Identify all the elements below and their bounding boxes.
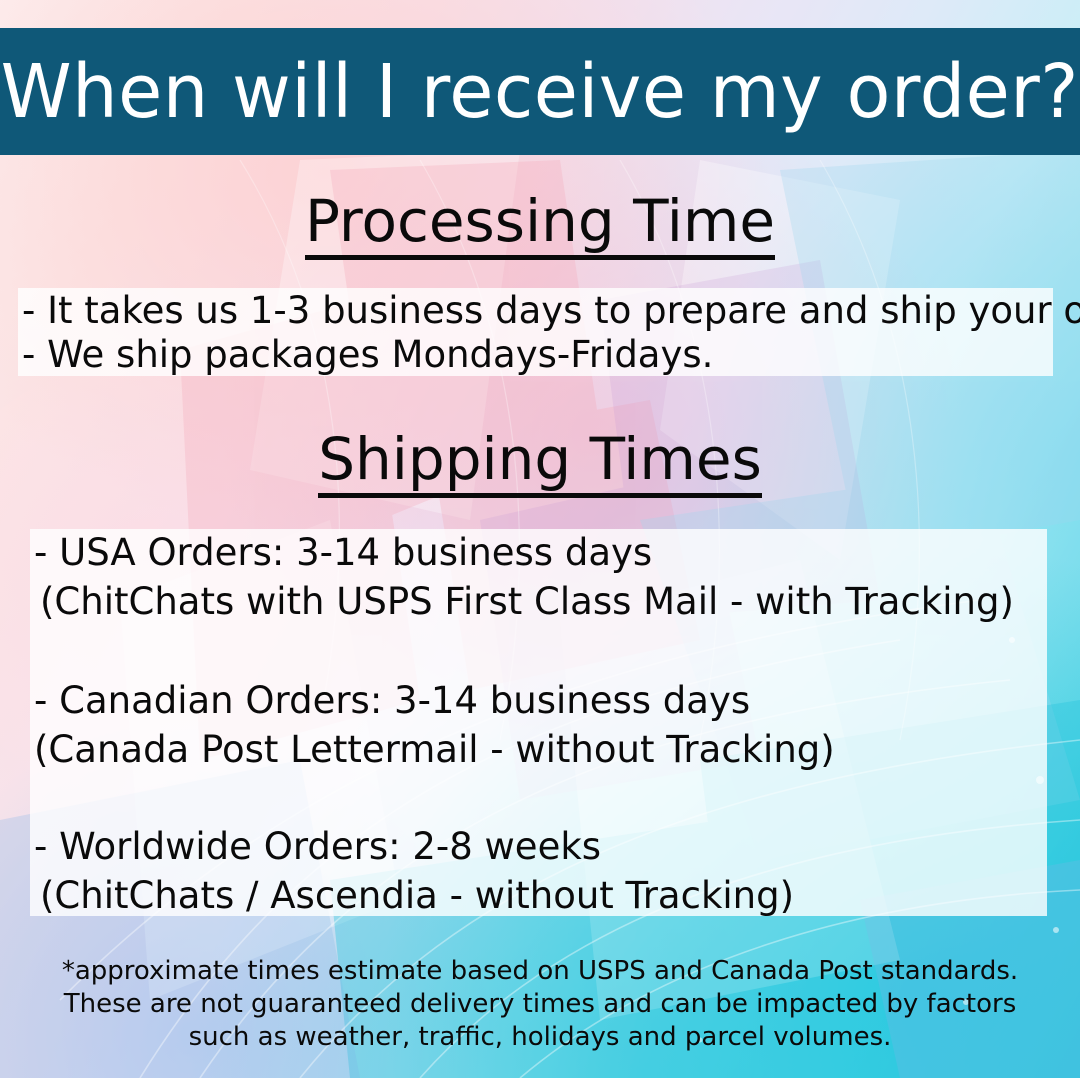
processing-line-1: - It takes us 1-3 business days to prepa… — [22, 289, 1080, 333]
shipping-times-heading: Shipping Times — [0, 430, 1080, 498]
processing-time-heading-text: Processing Time — [305, 192, 775, 260]
processing-time-lines: - It takes us 1-3 business days to prepa… — [22, 289, 1080, 377]
footnote-line-1: *approximate times estimate based on USP… — [0, 955, 1080, 988]
processing-time-heading: Processing Time — [0, 192, 1080, 260]
shipping-entry-usa: - USA Orders: 3-14 business days (ChitCh… — [34, 528, 1014, 626]
page-title: When will I receive my order? — [1, 55, 1079, 129]
footnote-line-3: such as weather, traffic, holidays and p… — [0, 1021, 1080, 1054]
shipping-entry-canada: - Canadian Orders: 3-14 business days (C… — [34, 676, 835, 774]
disclaimer-footnote: *approximate times estimate based on USP… — [0, 955, 1080, 1054]
processing-line-2: - We ship packages Mondays-Fridays. — [22, 333, 1080, 377]
shipping-usa-line-2: (ChitChats with USPS First Class Mail - … — [34, 577, 1014, 626]
shipping-canada-line-2: (Canada Post Lettermail - without Tracki… — [34, 725, 835, 774]
shipping-entry-worldwide: - Worldwide Orders: 2-8 weeks (ChitChats… — [34, 822, 794, 920]
shipping-worldwide-line-1: - Worldwide Orders: 2-8 weeks — [34, 822, 794, 871]
footnote-line-2: These are not guaranteed delivery times … — [0, 988, 1080, 1021]
header-banner: When will I receive my order? — [0, 28, 1080, 155]
shipping-worldwide-line-2: (ChitChats / Ascendia - without Tracking… — [34, 871, 794, 920]
shipping-usa-line-1: - USA Orders: 3-14 business days — [34, 528, 1014, 577]
shipping-info-poster: When will I receive my order? Processing… — [0, 0, 1080, 1078]
shipping-times-heading-text: Shipping Times — [318, 430, 762, 498]
shipping-canada-line-1: - Canadian Orders: 3-14 business days — [34, 676, 835, 725]
